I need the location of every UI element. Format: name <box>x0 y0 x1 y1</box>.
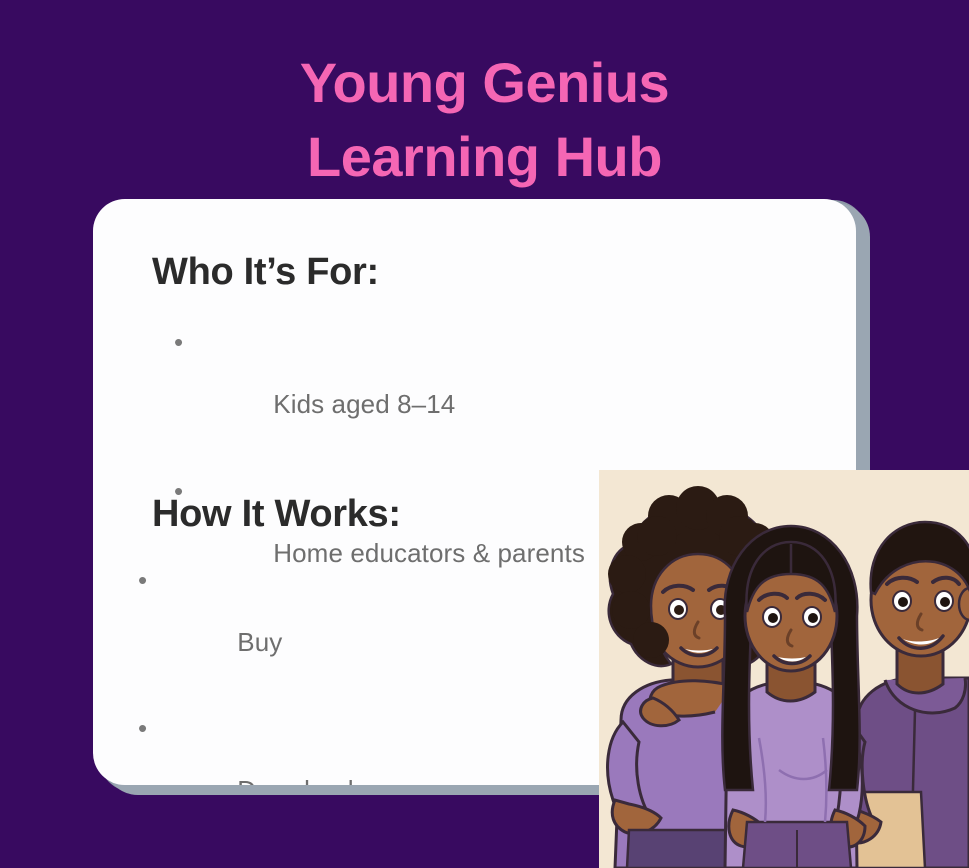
bullet-icon: • <box>138 565 147 596</box>
section-heading-who-its-for: Who It’s For: <box>152 251 379 294</box>
bullet-icon: • <box>174 327 183 358</box>
title-line-1: Young Genius <box>0 46 969 120</box>
list-item-label: Kids aged 8–14 <box>273 389 455 420</box>
list-item: • Buy <box>138 565 532 689</box>
poster-canvas: Young Genius Learning Hub Who It’s For: … <box>0 0 969 868</box>
list-item: • Download <box>138 713 532 785</box>
list-item-label: Download <box>237 775 353 785</box>
list-how-it-works: • Buy • Download • Unlock learning poten… <box>138 565 532 785</box>
children-illustration <box>599 470 969 868</box>
list-item-label: Buy <box>237 627 282 658</box>
title-line-2: Learning Hub <box>0 120 969 194</box>
page-title: Young Genius Learning Hub <box>0 46 969 194</box>
list-item: • Kids aged 8–14 <box>174 327 585 451</box>
children-illustration-svg <box>599 470 969 868</box>
bullet-icon: • <box>138 713 147 744</box>
section-heading-how-it-works: How It Works: <box>152 493 401 536</box>
